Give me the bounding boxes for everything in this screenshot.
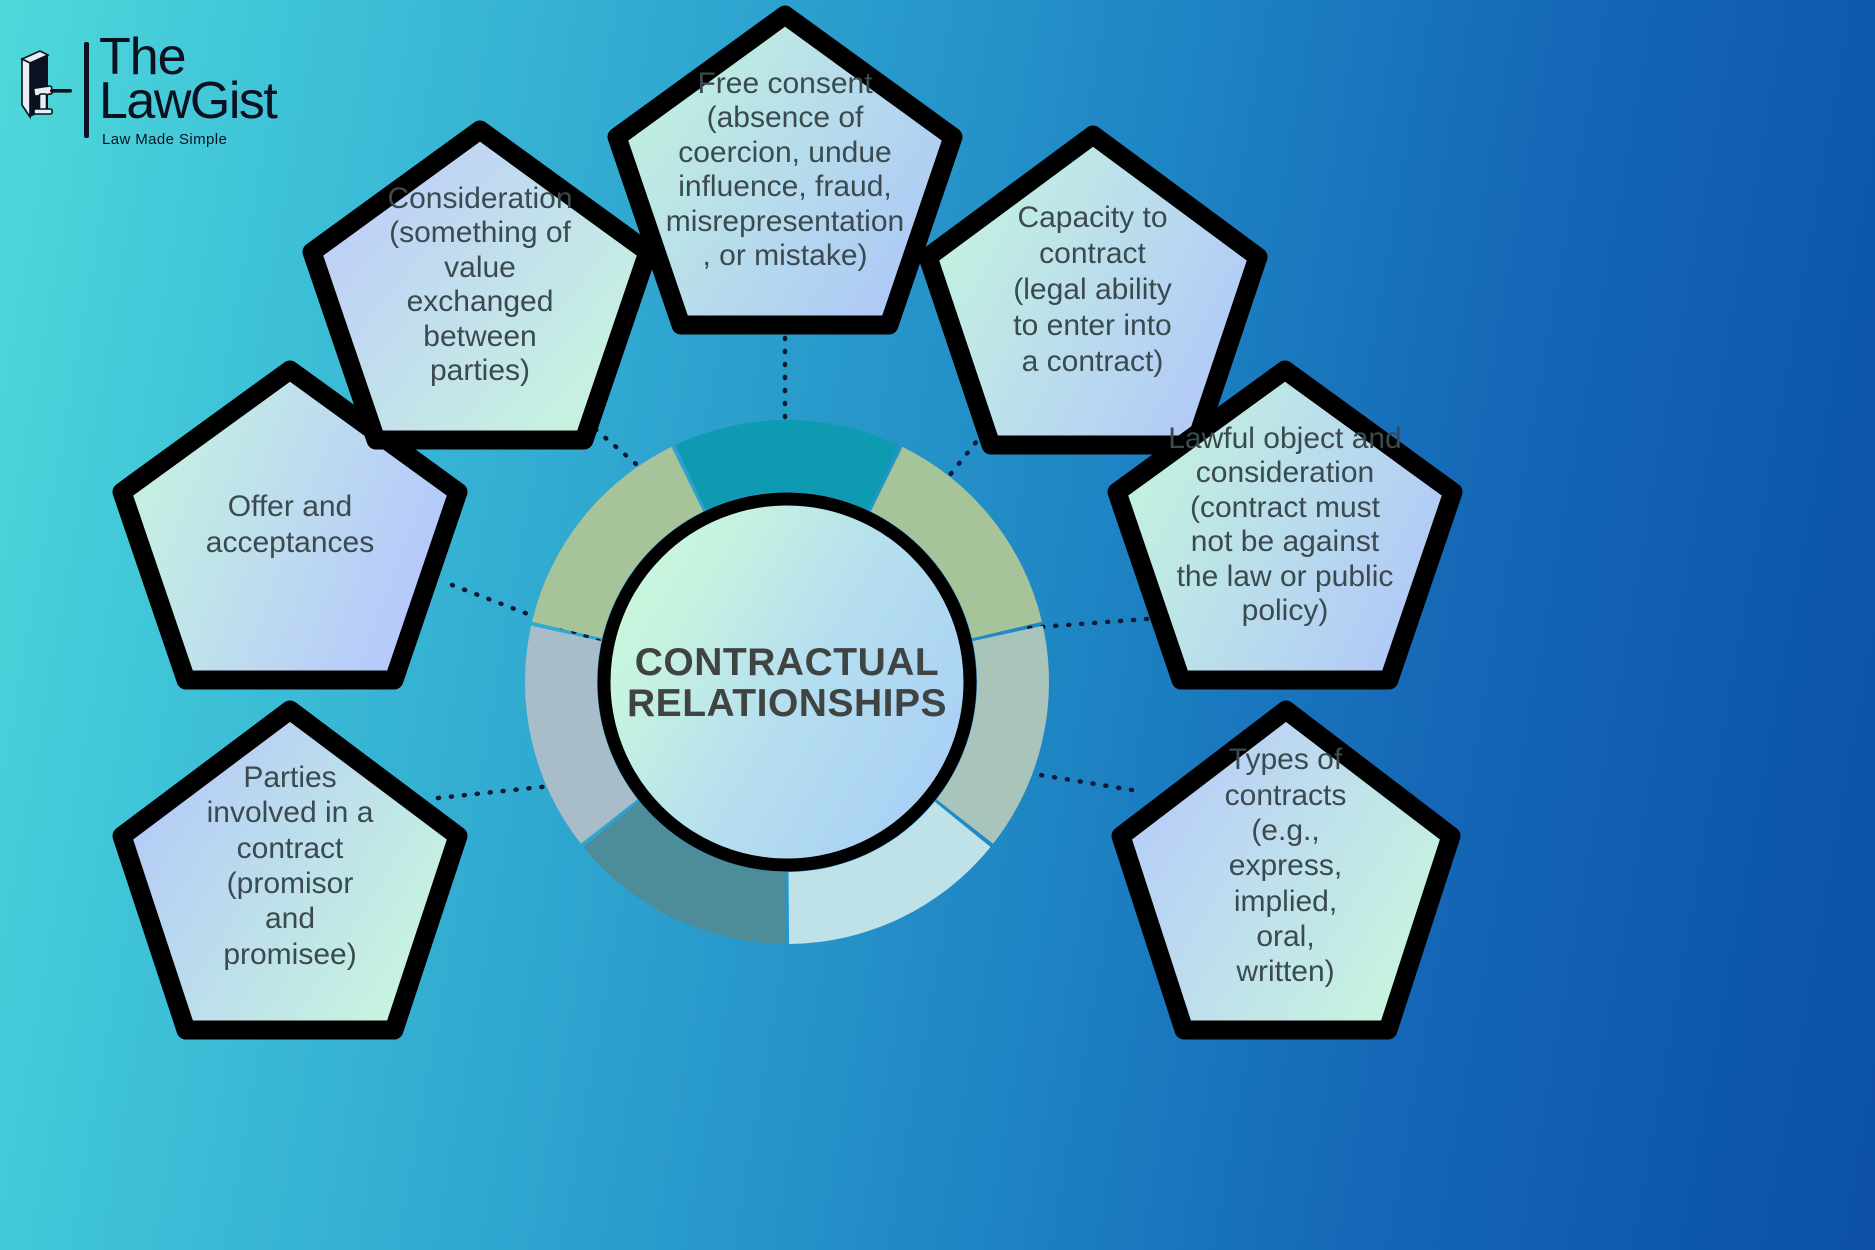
book-gavel-icon	[14, 47, 74, 133]
node-free-consent[interactable]: Free consent (absence of coercion, undue…	[605, 5, 965, 335]
center-title: CONTRACTUAL RELATIONSHIPS	[575, 620, 999, 746]
node-parties-involved-in-a-contract[interactable]: Parties involved in a contract (promisor…	[110, 700, 470, 1040]
infographic-canvas: The LawGist Law Made Simple	[0, 0, 1875, 1250]
pentagon-shape	[312, 130, 648, 440]
logo-wordmark: The LawGist Law Made Simple	[99, 34, 276, 146]
logo-tagline: Law Made Simple	[102, 133, 276, 147]
pentagon-shape	[122, 710, 458, 1030]
brand-logo[interactable]: The LawGist Law Made Simple	[14, 34, 276, 146]
node-lawful-object-and-consideration[interactable]: Lawful object and consideration (contrac…	[1105, 360, 1465, 690]
logo-divider	[84, 42, 89, 138]
pentagon-shape	[1117, 370, 1453, 680]
pentagon-shape	[617, 15, 953, 325]
logo-line-lawgist: LawGist	[99, 78, 276, 126]
node-types-of-contracts[interactable]: Types of contracts (e.g., express, impli…	[1108, 700, 1463, 1040]
pentagon-shape	[1121, 710, 1451, 1030]
